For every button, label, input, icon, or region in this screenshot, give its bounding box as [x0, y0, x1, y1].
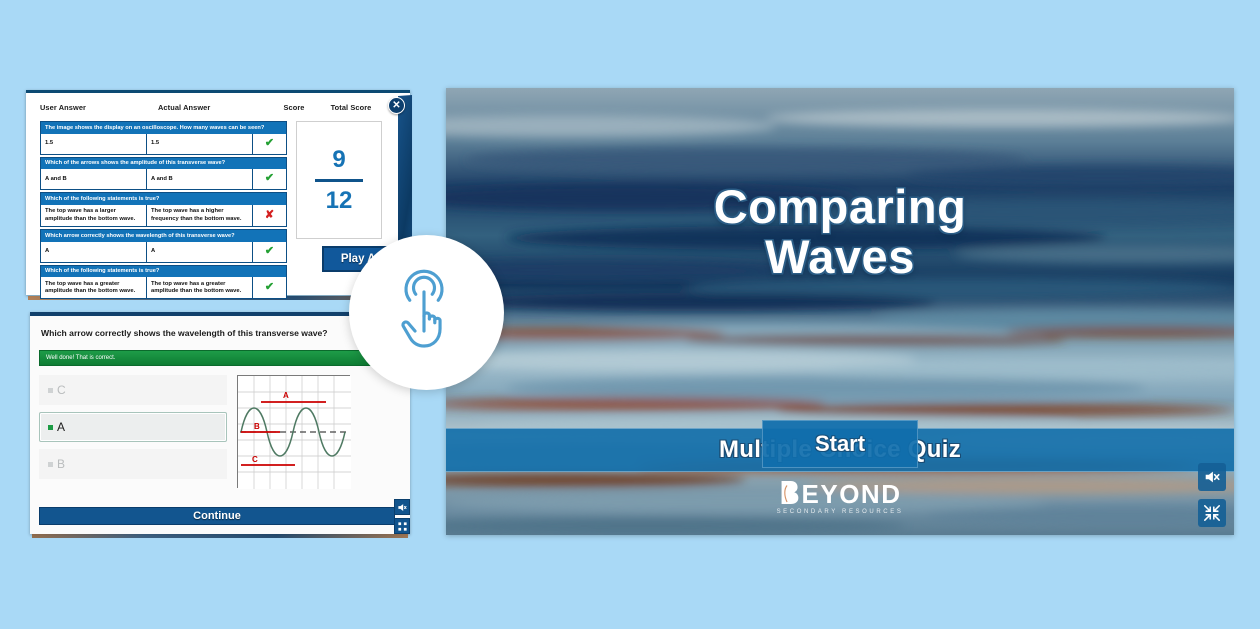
cell-actual-answer: 1.5 [147, 134, 253, 154]
answer-options-list: CAB [39, 375, 227, 488]
fullscreen-glyph [397, 521, 408, 532]
brand-b-icon [779, 480, 801, 508]
speaker-muted-glyph [1203, 468, 1221, 486]
table-row: The top wave has a larger amplitude than… [40, 205, 287, 227]
feedback-banner: Well done! That is correct. [39, 350, 401, 366]
cell-actual-answer: The top wave has a higher frequency than… [147, 205, 253, 226]
wave-diagram-svg: A B C [238, 376, 351, 489]
start-button[interactable]: Start [762, 420, 918, 468]
cell-user-answer: 1.5 [41, 134, 147, 154]
results-question-bar: Which of the following statements is tru… [40, 265, 287, 278]
option-marker-icon [48, 388, 53, 393]
tap-hand-icon [349, 235, 504, 390]
question-prompt: Which arrow correctly shows the waveleng… [39, 324, 401, 348]
tap-hand-glyph [379, 265, 475, 361]
slide-title-line1: Comparing [446, 182, 1234, 232]
cell-actual-answer: The top wave has a greater amplitude tha… [147, 277, 253, 298]
score-total: 12 [326, 189, 353, 213]
slide-title: Comparing Waves [446, 182, 1234, 282]
score-divider [315, 179, 363, 182]
option-marker-icon [48, 462, 53, 467]
question-side-controls [394, 499, 410, 534]
cell-actual-answer: A [147, 242, 253, 262]
header-actual-answer: Actual Answer [158, 103, 268, 112]
fullscreen-icon[interactable] [394, 518, 410, 534]
speaker-muted-icon[interactable] [394, 499, 410, 515]
continue-button[interactable]: Continue [39, 507, 395, 525]
cell-user-answer: A [41, 242, 147, 262]
beyond-logo: EYOND SECONDARY RESOURCES [777, 480, 904, 515]
option-label: A [57, 420, 65, 434]
table-row: 1.51.5✔ [40, 134, 287, 155]
table-row: AA✔ [40, 242, 287, 263]
score-achieved: 9 [332, 148, 345, 172]
header-user-answer: User Answer [40, 103, 158, 112]
results-question-bar: Which arrow correctly shows the waveleng… [40, 229, 287, 242]
collapse-fullscreen-icon[interactable] [1198, 499, 1226, 527]
brand-tagline: SECONDARY RESOURCES [777, 509, 904, 515]
speaker-muted-icon[interactable] [1198, 463, 1226, 491]
speaker-muted-glyph [397, 502, 408, 513]
results-question-bar: Which of the arrows shows the amplitude … [40, 157, 287, 170]
brand-word: EYOND [802, 481, 902, 507]
quiz-title-slide: Comparing Waves Multiple Choice Quiz Sta… [446, 88, 1234, 535]
cell-actual-answer: A and B [147, 169, 253, 189]
quiz-question-panel: Which arrow correctly shows the waveleng… [30, 312, 410, 534]
correct-tick-icon: ✔ [253, 277, 286, 298]
question-panel-bottom-edge [32, 534, 408, 538]
cell-user-answer: The top wave has a greater amplitude tha… [41, 277, 147, 298]
table-row: A and BA and B✔ [40, 169, 287, 190]
answer-option-a[interactable]: A [39, 412, 227, 442]
results-table-header: User Answer Actual Answer Score Total Sc… [40, 103, 396, 121]
correct-tick-icon: ✔ [253, 134, 286, 154]
cell-user-answer: The top wave has a larger amplitude than… [41, 205, 147, 226]
header-total-score: Total Score [320, 103, 382, 112]
results-question-bar: The image shows the display on an oscill… [40, 121, 287, 134]
transverse-wave-diagram: A B C [237, 375, 350, 488]
answer-option-b[interactable]: B [39, 449, 227, 479]
answer-option-c[interactable]: C [39, 375, 227, 405]
brand-name: EYOND [779, 480, 902, 508]
slide-controls [1198, 463, 1226, 527]
collapse-fullscreen-glyph [1203, 504, 1221, 522]
incorrect-cross-icon: ✘ [253, 205, 286, 226]
option-label: B [57, 457, 65, 471]
results-table: The image shows the display on an oscill… [40, 121, 287, 301]
header-score: Score [268, 103, 320, 112]
option-label: C [57, 383, 66, 397]
slide-title-line2: Waves [446, 232, 1234, 282]
results-question-bar: Which of the following statements is tru… [40, 192, 287, 205]
total-score-box: 9 12 [296, 121, 382, 239]
svg-text:C: C [252, 455, 258, 464]
cell-user-answer: A and B [41, 169, 147, 189]
svg-text:A: A [283, 391, 289, 400]
svg-text:B: B [254, 422, 260, 431]
correct-tick-icon: ✔ [253, 169, 286, 189]
close-icon[interactable]: ✕ [388, 97, 405, 114]
option-marker-icon [48, 425, 53, 430]
correct-tick-icon: ✔ [253, 242, 286, 262]
table-row: The top wave has a greater amplitude tha… [40, 277, 287, 299]
